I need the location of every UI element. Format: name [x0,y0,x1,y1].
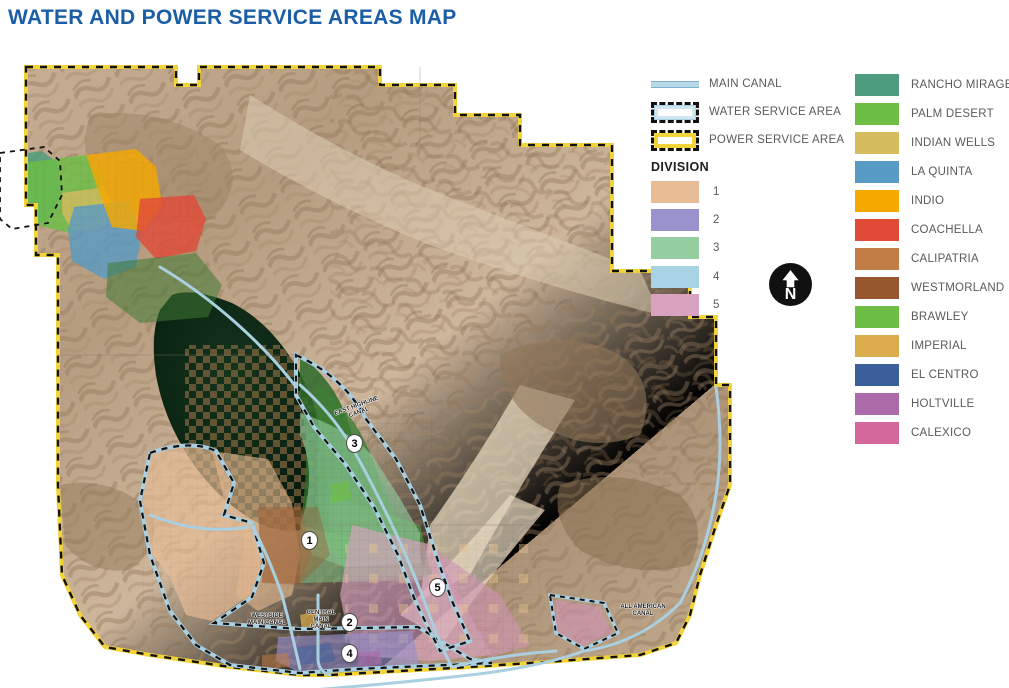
division-1-swatch [651,181,699,203]
legend-item-palm-desert[interactable]: PALM DESERT [855,99,1009,128]
palm-desert-swatch [855,103,899,125]
westmorland-swatch [855,277,899,299]
division-4-label: 4 [713,271,719,283]
legend-item-imperial[interactable]: IMPERIAL [855,331,1009,360]
calipatria-label: CALIPATRIA [911,253,979,265]
legend-item-la-quinta[interactable]: LA QUINTA [855,157,1009,186]
legend-primary: MAIN CANAL WATER SERVICE AREA POWER SERV… [651,70,841,319]
rancho-mirage-label: RANCHO MIRAGE [911,79,1009,91]
legend-item-el-centro[interactable]: EL CENTRO [855,360,1009,389]
page-title: WATER AND POWER SERVICE AREAS MAP [8,6,457,30]
palm-desert-label: PALM DESERT [911,108,994,120]
division-4-swatch [651,266,699,288]
legend-item-calexico[interactable]: CALEXICO [855,418,1009,447]
legend-item-division-2[interactable]: 2 [651,206,841,234]
legend-item-calipatria[interactable]: CALIPATRIA [855,244,1009,273]
rancho-mirage-swatch [855,74,899,96]
map-canvas[interactable]: EAST HIGHLINE CANAL WESTSIDE MAIN CANAL … [0,55,745,688]
brawley-swatch [855,306,899,328]
legend-item-division-1[interactable]: 1 [651,178,841,206]
legend-item-power-service-area[interactable]: POWER SERVICE AREA [651,126,841,154]
calexico-label: CALEXICO [911,427,971,439]
coachella-swatch [855,219,899,241]
legend-label-water-service-area: WATER SERVICE AREA [709,106,841,118]
division-3-swatch [651,237,699,259]
la-quinta-swatch [855,161,899,183]
legend-item-coachella[interactable]: COACHELLA [855,215,1009,244]
division-1-label: 1 [713,186,719,198]
division-5-label: 5 [713,299,719,311]
imperial-swatch [855,335,899,357]
indian-wells-swatch [855,132,899,154]
power-service-area-symbol-icon [651,130,699,151]
holtville-swatch [855,393,899,415]
el-centro-label: EL CENTRO [911,369,979,381]
map-graphic [0,55,745,688]
imperial-label: IMPERIAL [911,340,967,352]
division-2-label: 2 [713,214,719,226]
legend-item-water-service-area[interactable]: WATER SERVICE AREA [651,98,841,126]
indio-label: INDIO [911,195,944,207]
legend-item-main-canal[interactable]: MAIN CANAL [651,70,841,98]
coachella-label: COACHELLA [911,224,983,236]
legend-label-power-service-area: POWER SERVICE AREA [709,134,844,146]
legend-item-division-5[interactable]: 5 [651,291,841,319]
indian-wells-label: INDIAN WELLS [911,137,995,149]
division-3-label: 3 [713,242,719,254]
legend-item-brawley[interactable]: BRAWLEY [855,302,1009,331]
calipatria-swatch [855,248,899,270]
legend-item-division-3[interactable]: 3 [651,234,841,262]
brawley-label: BRAWLEY [911,311,969,323]
el-centro-swatch [855,364,899,386]
legend-label-main-canal: MAIN CANAL [709,78,782,90]
holtville-label: HOLTVILLE [911,398,974,410]
main-canal-symbol-icon [651,81,699,88]
division-2-swatch [651,209,699,231]
legend-item-indio[interactable]: INDIO [855,186,1009,215]
legend-item-westmorland[interactable]: WESTMORLAND [855,273,1009,302]
division-5-swatch [651,294,699,316]
la-quinta-label: LA QUINTA [911,166,972,178]
legend-item-division-4[interactable]: 4 [651,263,841,291]
water-service-area-symbol-icon [651,102,699,123]
calexico-swatch [855,422,899,444]
westmorland-label: WESTMORLAND [911,282,1004,294]
legend-item-rancho-mirage[interactable]: RANCHO MIRAGE [855,70,1009,99]
legend-item-indian-wells[interactable]: INDIAN WELLS [855,128,1009,157]
legend-heading-division: DIVISION [651,160,841,174]
legend-cities: RANCHO MIRAGE PALM DESERT INDIAN WELLS L… [855,70,1009,447]
legend-item-holtville[interactable]: HOLTVILLE [855,389,1009,418]
indio-swatch [855,190,899,212]
